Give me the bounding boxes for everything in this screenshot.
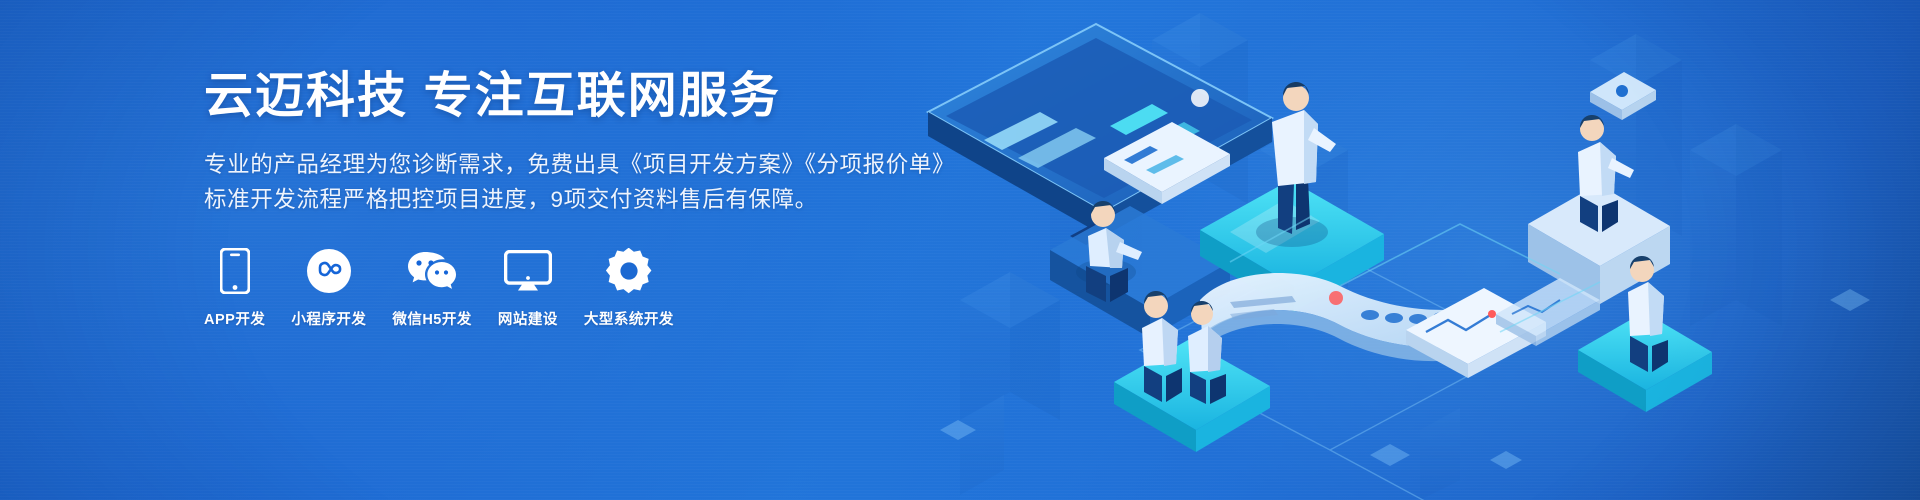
gear-icon xyxy=(606,247,652,295)
wechat-icon xyxy=(406,247,458,295)
service-item-wechat[interactable]: 微信H5开发 xyxy=(392,247,472,329)
service-label-website: 网站建设 xyxy=(498,308,558,329)
page-title: 云迈科技 专注互联网服务 xyxy=(204,68,964,126)
subtitle-line-1: 专业的产品经理为您诊断需求，免费出具《项目开发方案》《分项报价单》 xyxy=(204,147,964,182)
service-item-mini-program[interactable]: 小程序开发 xyxy=(291,247,366,329)
subtitle-line-2: 标准开发流程严格把控项目进度，9项交付资料售后有保障。 xyxy=(204,182,964,217)
service-item-website[interactable]: 网站建设 xyxy=(498,247,558,329)
service-label-app: APP开发 xyxy=(204,308,265,329)
service-list: APP开发 小程序开发 xyxy=(204,247,964,329)
monitor-icon xyxy=(504,247,552,295)
mini-program-icon xyxy=(307,247,351,295)
hero-copy: 云迈科技 专注互联网服务 专业的产品经理为您诊断需求，免费出具《项目开发方案》《… xyxy=(204,68,964,329)
service-label-mini-program: 小程序开发 xyxy=(291,308,366,329)
service-label-large-system: 大型系统开发 xyxy=(584,308,674,329)
hero-subtitle: 专业的产品经理为您诊断需求，免费出具《项目开发方案》《分项报价单》 标准开发流程… xyxy=(204,147,964,217)
mobile-phone-icon xyxy=(220,247,250,295)
isometric-data-platform-illustration xyxy=(900,0,1920,500)
service-item-large-system[interactable]: 大型系统开发 xyxy=(584,247,674,329)
service-item-app[interactable]: APP开发 xyxy=(204,247,265,329)
hero-banner: 云迈科技 专注互联网服务 专业的产品经理为您诊断需求，免费出具《项目开发方案》《… xyxy=(0,0,1920,500)
service-label-wechat: 微信H5开发 xyxy=(392,308,472,329)
